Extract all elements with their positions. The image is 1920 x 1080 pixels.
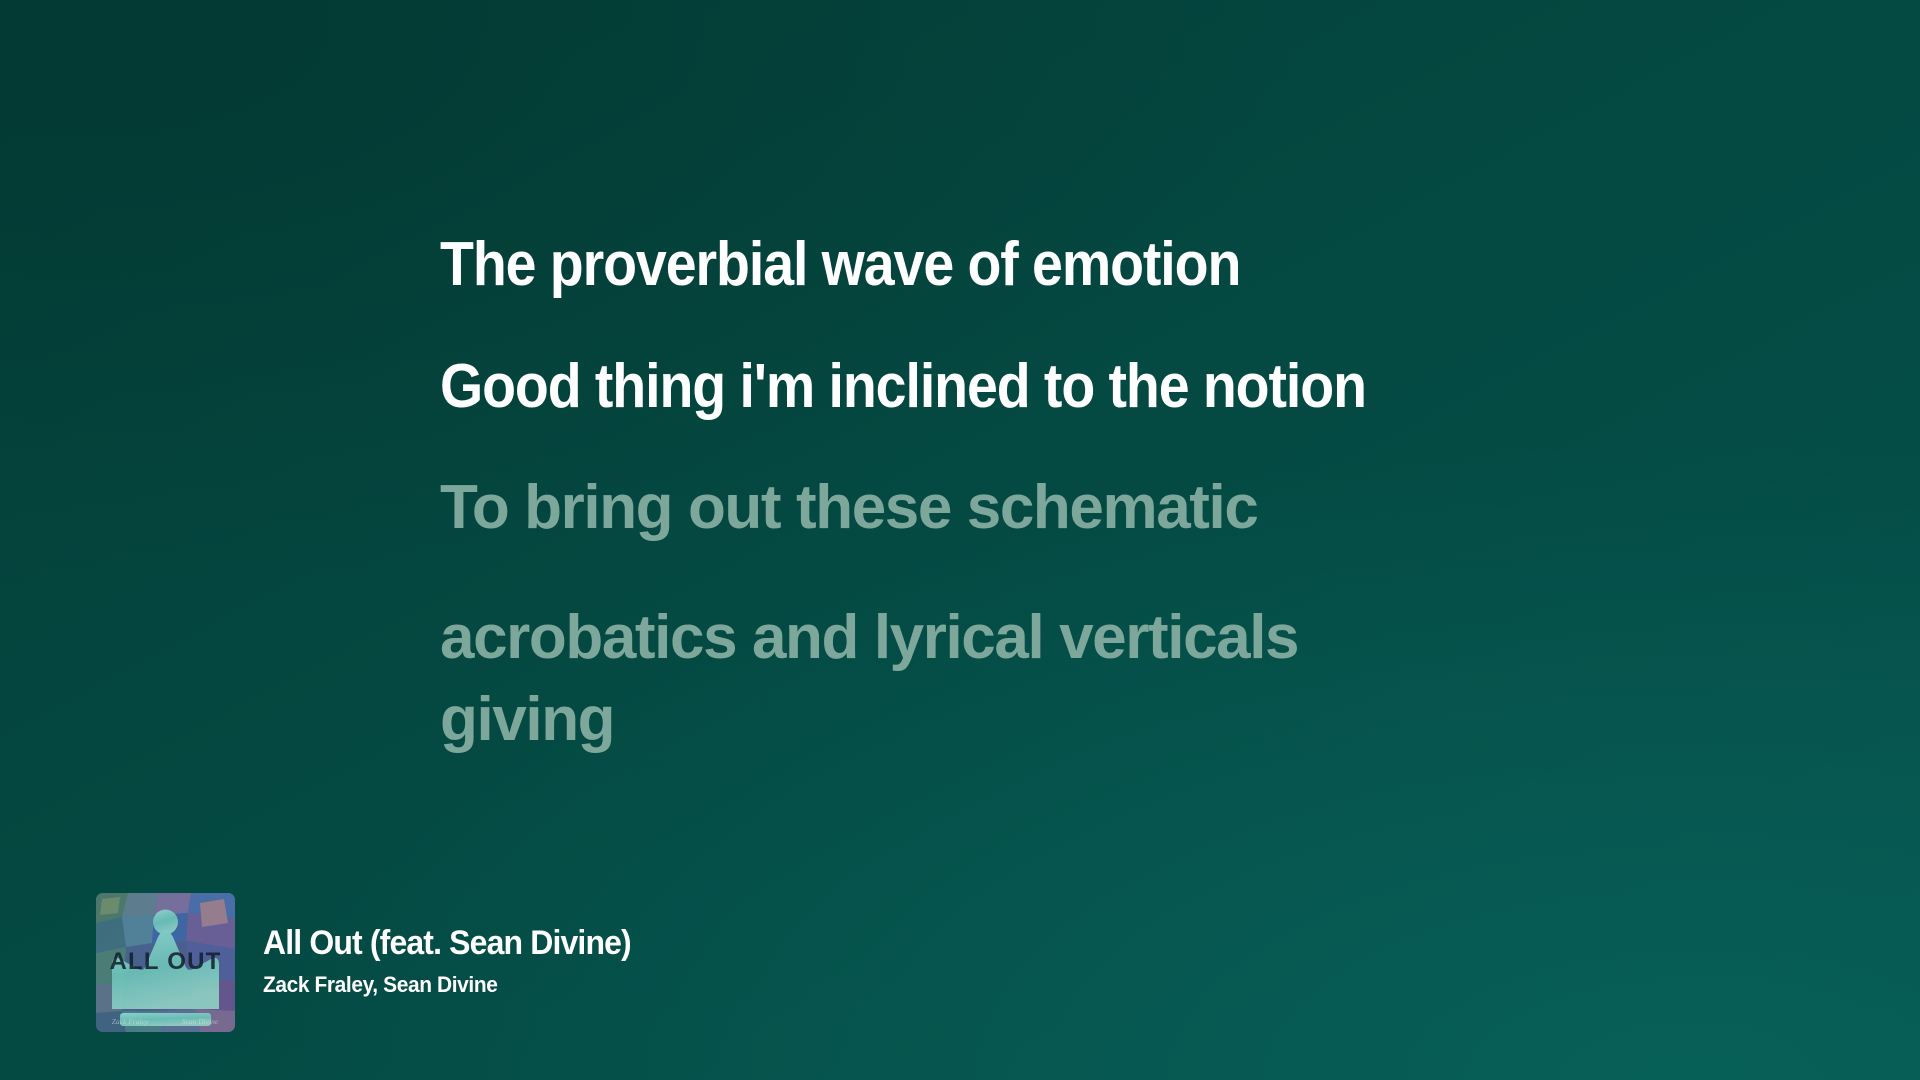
- track-metadata: All Out (feat. Sean Divine) Zack Fraley,…: [263, 924, 654, 1002]
- lyric-line-3[interactable]: To bring out these schematic: [440, 475, 1700, 541]
- track-title[interactable]: All Out (feat. Sean Divine): [263, 924, 631, 963]
- album-art-image[interactable]: ALL OUT Zack Fraley Sean Divine: [96, 893, 235, 1032]
- lyric-line-1[interactable]: The proverbial wave of emotion: [440, 232, 1568, 298]
- lyric-line-4[interactable]: acrobatics and lyrical verticals giving: [440, 597, 1380, 761]
- now-playing-bar: ALL OUT Zack Fraley Sean Divine All Out …: [96, 893, 654, 1032]
- lyric-line-2[interactable]: Good thing i'm inclined to the notion: [440, 354, 1568, 420]
- track-artists[interactable]: Zack Fraley, Sean Divine: [263, 972, 635, 998]
- lyrics-panel: The proverbial wave of emotion Good thin…: [440, 232, 1700, 761]
- svg-text:Sean Divine: Sean Divine: [182, 1017, 219, 1026]
- svg-text:ALL OUT: ALL OUT: [110, 948, 222, 975]
- svg-text:Zack Fraley: Zack Fraley: [112, 1017, 149, 1026]
